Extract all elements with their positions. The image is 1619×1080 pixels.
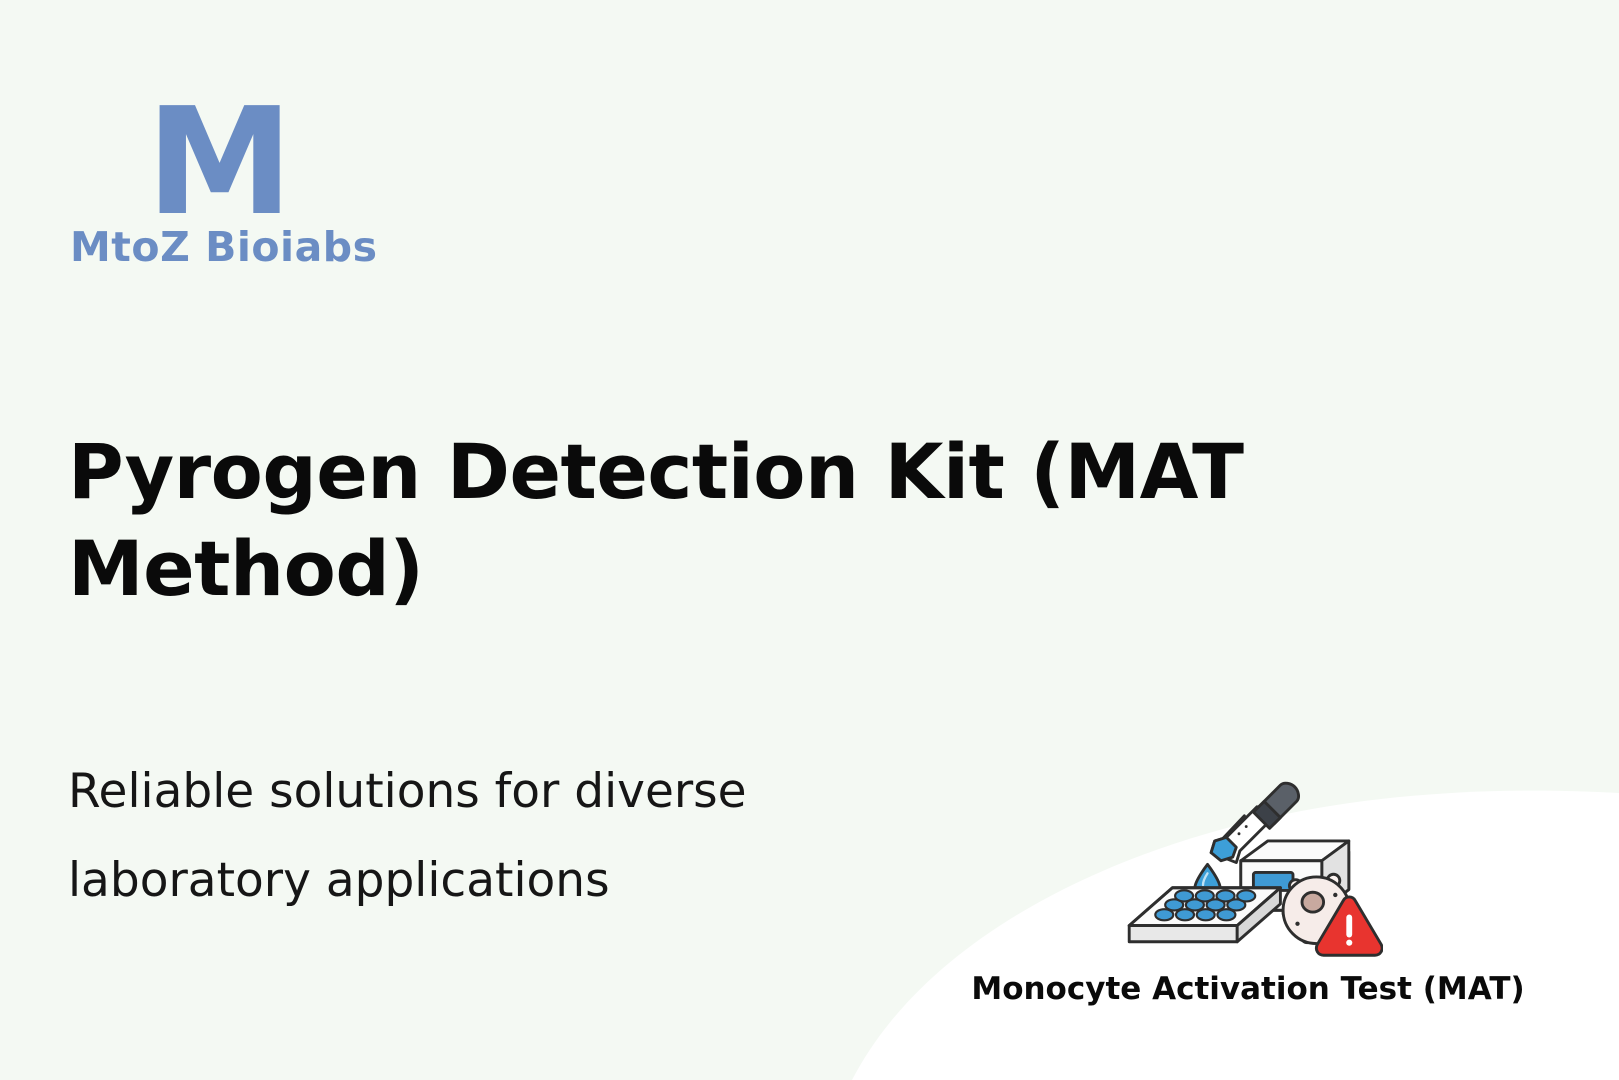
slide-canvas: M MtoZ Bioiabs Pyrogen Detection Kit (MA…: [0, 0, 1619, 1080]
figure-block: Monocyte Activation Test (MAT): [948, 770, 1548, 1060]
brand-logo: M MtoZ Bioiabs: [70, 88, 490, 269]
page-title: Pyrogen Detection Kit (MAT Method): [68, 423, 1248, 618]
microwell-plate-icon: [1129, 888, 1280, 942]
page-subtitle: Reliable solutions for diverse laborator…: [68, 747, 888, 926]
logo-wordmark: MtoZ Bioiabs: [70, 226, 490, 269]
logo-mark-m: M: [146, 88, 490, 210]
figure-caption: Monocyte Activation Test (MAT): [971, 971, 1524, 1007]
mat-assay-illustration: [1113, 770, 1383, 965]
